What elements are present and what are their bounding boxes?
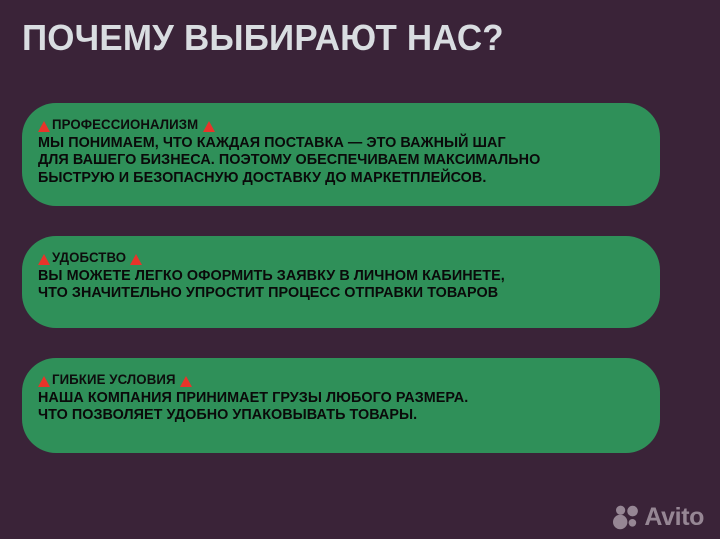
benefit-card-body: МЫ ПОНИМАЕМ, ЧТО КАЖДАЯ ПОСТАВКА — ЭТО В…	[38, 135, 635, 187]
red-triangle-icon	[38, 254, 50, 265]
avito-watermark: Avito	[612, 505, 704, 530]
avito-dots-logo-icon	[612, 505, 639, 530]
avito-wordmark: Avito	[644, 505, 704, 530]
benefit-card-body: ВЫ МОЖЕТЕ ЛЕГКО ОФОРМИТЬ ЗАЯВКУ В ЛИЧНОМ…	[38, 268, 635, 303]
benefit-card-body: НАША КОМПАНИЯ ПРИНИМАЕТ ГРУЗЫ ЛЮБОГО РАЗ…	[38, 390, 635, 425]
page-title-text: ПОЧЕМУ ВЫБИРАЮТ НАС?	[22, 18, 504, 58]
slide-canvas: ПОЧЕМУ ВЫБИРАЮТ НАС? ПРОФЕССИОНАЛИЗМ МЫ …	[0, 0, 720, 539]
benefit-card-heading: ГИБКИЕ УСЛОВИЯ	[38, 372, 644, 388]
red-triangle-icon	[180, 376, 192, 387]
red-triangle-icon	[203, 121, 215, 132]
benefit-card-heading: ПРОФЕССИОНАЛИЗМ	[38, 117, 644, 133]
page-title: ПОЧЕМУ ВЫБИРАЮТ НАС?	[22, 16, 698, 60]
benefit-card-heading-label: УДОБСТВО	[51, 250, 127, 266]
red-triangle-icon	[38, 376, 50, 387]
benefit-card: УДОБСТВО ВЫ МОЖЕТЕ ЛЕГКО ОФОРМИТЬ ЗАЯВКУ…	[22, 236, 660, 328]
red-triangle-icon	[130, 254, 142, 265]
benefit-card: ГИБКИЕ УСЛОВИЯ НАША КОМПАНИЯ ПРИНИМАЕТ Г…	[22, 358, 660, 453]
red-triangle-icon	[38, 121, 50, 132]
benefit-card: ПРОФЕССИОНАЛИЗМ МЫ ПОНИМАЕМ, ЧТО КАЖДАЯ …	[22, 103, 660, 206]
benefit-card-heading: УДОБСТВО	[38, 250, 644, 266]
benefit-card-heading-label: ПРОФЕССИОНАЛИЗМ	[51, 117, 199, 133]
benefit-card-heading-label: ГИБКИЕ УСЛОВИЯ	[51, 372, 177, 388]
